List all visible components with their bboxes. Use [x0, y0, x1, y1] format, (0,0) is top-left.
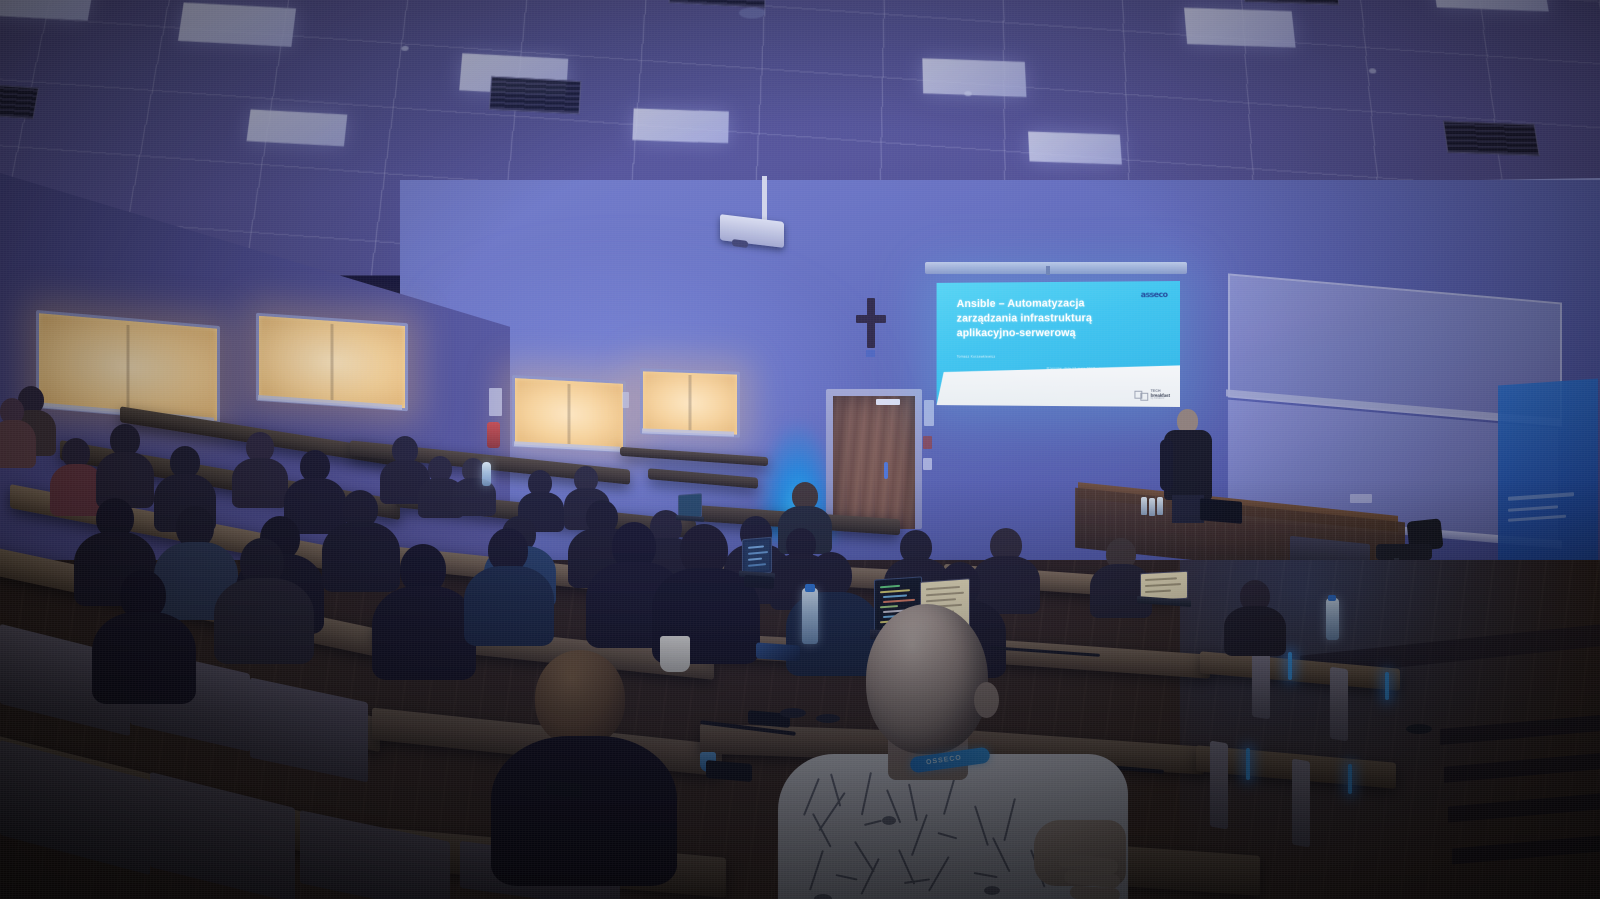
lanyard-text: OSSECO: [926, 754, 963, 766]
aisle-led-light: [1385, 672, 1389, 700]
slide-title-line-3: aplikacyjno-serwerową: [957, 326, 1161, 341]
projection-screen-housing: [925, 262, 1187, 274]
water-bottles-on-desk: [1141, 497, 1169, 517]
slide-title-line-2: zarządzania infrastrukturą: [957, 311, 1161, 326]
finger: [1070, 885, 1121, 899]
person-shoulders: [372, 586, 476, 680]
seat-end-panel: [1210, 741, 1228, 830]
wall-notice-board: [923, 458, 932, 470]
tech-breakfast-line-3: by ASSECO: [1151, 398, 1170, 401]
person-shoulders: [214, 578, 314, 664]
wall-sign: [622, 392, 629, 408]
person-shoulders: [0, 420, 36, 468]
laptop-screen: [742, 537, 772, 576]
seat-end-panel: [1252, 647, 1270, 720]
ceiling-light-panel: [632, 108, 728, 143]
aisle-led-light: [1348, 764, 1352, 794]
window-glow: [643, 371, 737, 434]
wall-plate-icon: [866, 350, 875, 357]
ceiling-light-panel: [178, 3, 296, 47]
ceiling-air-vent: [1443, 121, 1540, 156]
tech-breakfast-logo: TECH breakfast by ASSECO: [1135, 389, 1170, 400]
projection-screen: asseco Ansible – Automatyzacja zarządzan…: [937, 281, 1180, 407]
person-shoulders: [464, 566, 554, 646]
water-bottle[interactable]: [1326, 598, 1339, 640]
wall-notice-sheet: [489, 388, 502, 416]
ceiling-air-vent: [0, 82, 39, 119]
door-handle[interactable]: [884, 462, 888, 479]
ceiling-light-panel: [1028, 131, 1122, 164]
presenter-monitor: [1200, 498, 1242, 524]
foreground-attendee: OSSECO: [760, 604, 1140, 899]
banner-text-line: [1508, 515, 1566, 522]
wall-crucifix: [867, 298, 875, 348]
ceiling-air-vent: [489, 76, 582, 114]
water-bottle[interactable]: [482, 462, 491, 486]
door-sign: [876, 399, 900, 405]
ceiling-smoke-detector: [739, 7, 765, 18]
banner-text-line: [1508, 492, 1574, 501]
chair-seat: [1376, 544, 1432, 560]
screen-pull-knob[interactable]: [1046, 266, 1050, 275]
slide-title-line-1: Ansible – Automatyzacja: [957, 296, 1161, 312]
ceiling-sensor: [1369, 68, 1377, 73]
seat-end-panel: [1292, 759, 1310, 848]
person-shoulders: [1224, 606, 1286, 656]
desk-cable-grommet: [1406, 724, 1432, 734]
presentation-slide: asseco Ansible – Automatyzacja zarządzan…: [937, 281, 1180, 407]
ear: [974, 682, 999, 718]
projector-mount-arm: [762, 176, 767, 220]
person-shoulders: [232, 458, 288, 508]
wall-socket-icon: [1350, 494, 1372, 503]
window-glow: [259, 316, 405, 408]
slide-author: Tomasz Kurzawkiewicz: [957, 354, 996, 358]
ceiling-light-panel: [1184, 8, 1296, 48]
bottle-cap: [805, 584, 815, 592]
ceiling-light-panel: [246, 109, 347, 146]
banner-text-line: [1508, 505, 1558, 511]
person-shoulders: [322, 522, 400, 592]
ceiling-speaker: [964, 91, 971, 96]
wall-notice-board: [923, 436, 932, 449]
smartphone[interactable]: [744, 575, 774, 589]
coffee-cup[interactable]: [660, 636, 690, 672]
wall-notice-board: [924, 400, 934, 426]
aisle-led-light: [1288, 652, 1292, 680]
lecture-hall-door[interactable]: [833, 396, 915, 529]
slide-footer-band: [937, 365, 1180, 407]
bottle-cap: [1328, 595, 1336, 601]
seat-end-panel: [1330, 667, 1348, 742]
aisle-led-light: [1246, 748, 1250, 780]
ceiling-light-panel: [922, 58, 1026, 97]
wall-crucifix-bar: [856, 315, 886, 323]
person-shoulders: [491, 736, 677, 886]
backlit-window: [640, 368, 740, 437]
fire-extinguisher: [487, 422, 500, 448]
window-glow: [515, 378, 623, 450]
person-head: [535, 650, 625, 746]
slide-title: Ansible – Automatyzacja zarządzania infr…: [957, 296, 1161, 340]
attendee-head: [866, 604, 988, 754]
presenter-arm: [1160, 439, 1173, 491]
tech-breakfast-mark-icon: [1135, 389, 1149, 400]
person-shoulders: [92, 612, 196, 704]
laptop-screen-content: [745, 540, 769, 572]
lecture-hall-photo: asseco Ansible – Automatyzacja zarządzan…: [0, 0, 1600, 899]
